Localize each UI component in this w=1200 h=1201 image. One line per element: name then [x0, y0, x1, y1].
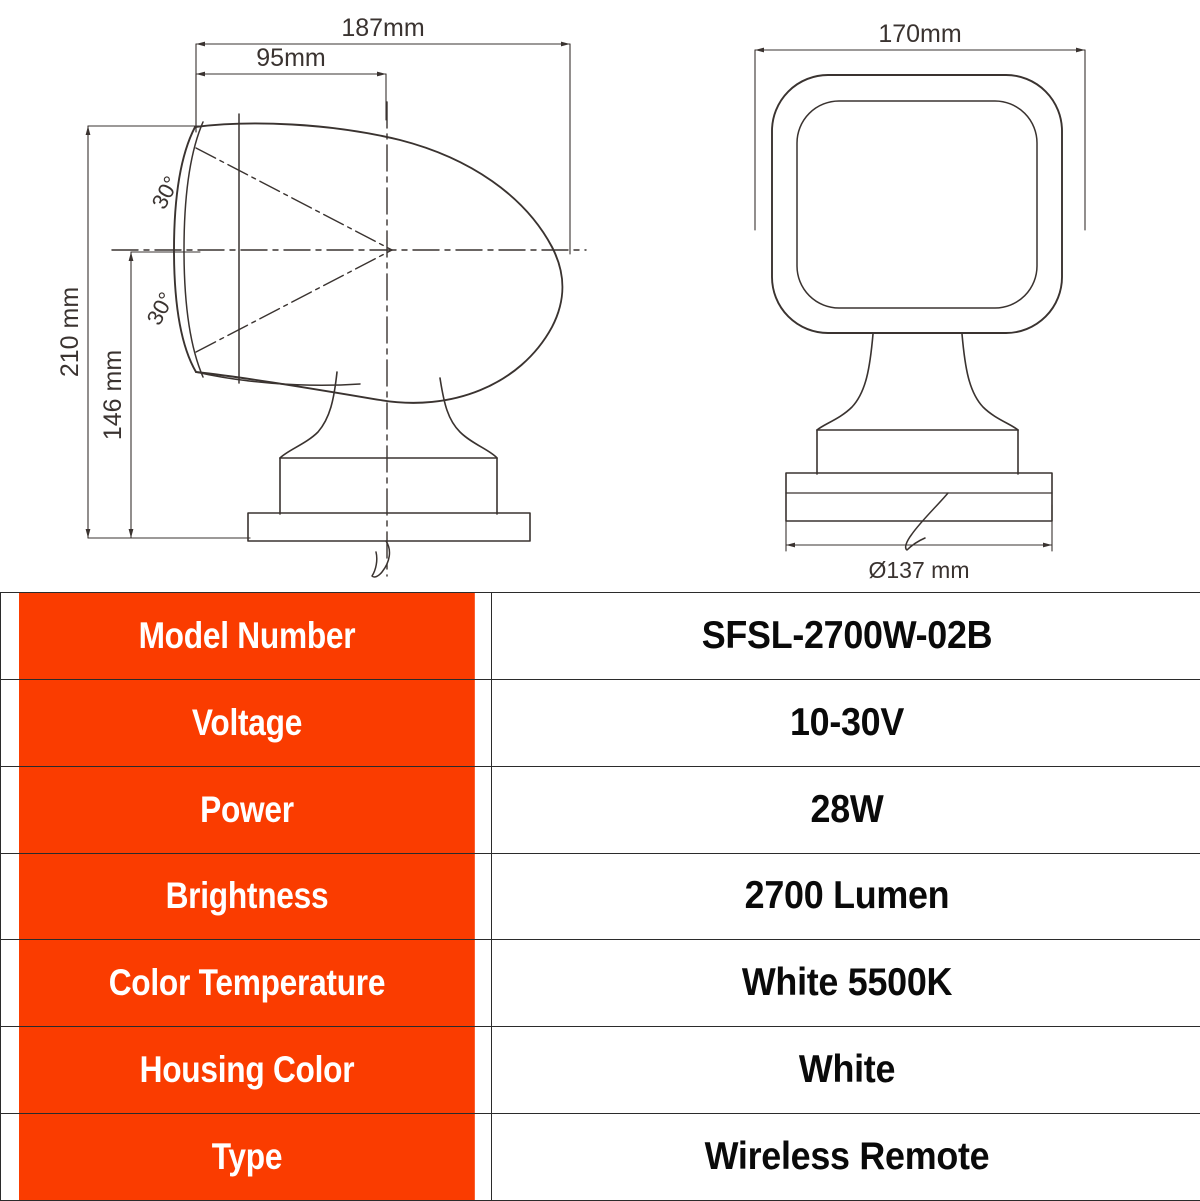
spec-value-text: 10-30V: [520, 701, 1173, 745]
table-row: Brightness 2700 Lumen: [1, 853, 1200, 940]
spec-value-brightness: 2700 Lumen: [492, 853, 1200, 940]
spec-label-text: Brightness: [36, 875, 455, 917]
spec-value-type: Wireless Remote: [492, 1114, 1200, 1201]
spec-label-text: Model Number: [36, 615, 455, 657]
table-row: Housing Color White: [1, 1027, 1200, 1114]
drawings-svg: 187mm 95mm 210 mm 146 mm 30° 30° 170mm Ø…: [0, 0, 1200, 592]
spec-value-model-number: SFSL-2700W-02B: [492, 593, 1200, 680]
dim-187mm: [196, 44, 570, 254]
spec-label-voltage: Voltage: [18, 679, 475, 766]
table-row: Power 28W: [1, 766, 1200, 853]
spec-value-housing-color: White: [492, 1027, 1200, 1114]
dim-label-146mm: 146 mm: [99, 350, 127, 440]
dim-170mm: [755, 50, 1085, 230]
spec-value-power: 28W: [492, 766, 1200, 853]
specification-table-body: Model Number SFSL-2700W-02B Voltage 10-3…: [1, 593, 1200, 1201]
dim-146mm: [131, 252, 250, 538]
dim-95mm: [196, 74, 386, 132]
front-pedestal-right-profile: [962, 334, 1018, 430]
table-row: Model Number SFSL-2700W-02B: [1, 593, 1200, 680]
spec-label-color-temperature: Color Temperature: [18, 940, 475, 1027]
angle-label-30deg-lower: 30°: [142, 288, 180, 329]
front-base-flange: [786, 473, 1052, 521]
specification-table: Model Number SFSL-2700W-02B Voltage 10-3…: [0, 592, 1200, 1201]
spec-label-type: Type: [18, 1114, 475, 1201]
table-row: Color Temperature White 5500K: [1, 940, 1200, 1027]
dim-label-95mm: 95mm: [256, 44, 325, 72]
spec-value-text: White 5500K: [520, 961, 1173, 1005]
spec-value-text: 2700 Lumen: [520, 874, 1173, 918]
spec-label-text: Housing Color: [36, 1049, 455, 1091]
spec-label-text: Color Temperature: [36, 962, 455, 1004]
base-flange-plate: [248, 513, 530, 541]
dim-137mm: [786, 505, 1052, 551]
spec-value-text: SFSL-2700W-02B: [520, 614, 1173, 658]
spec-label-model-number: Model Number: [18, 593, 475, 680]
table-row: Type Wireless Remote: [1, 1114, 1200, 1201]
spec-value-voltage: 10-30V: [492, 679, 1200, 766]
lens-bezel-outline: [797, 101, 1037, 308]
spec-label-brightness: Brightness: [18, 853, 475, 940]
dim-label-187mm: 187mm: [341, 14, 424, 42]
housing-outer-outline: [772, 75, 1062, 333]
front-pedestal-left-profile: [817, 334, 873, 430]
spec-label-text: Power: [36, 789, 455, 831]
spec-label-text: Voltage: [36, 702, 455, 744]
spec-value-color-temperature: White 5500K: [492, 940, 1200, 1027]
spec-value-text: 28W: [520, 788, 1173, 832]
spec-label-power: Power: [18, 766, 475, 853]
pedestal-right-profile: [440, 378, 497, 458]
dim-label-137mm: Ø137 mm: [869, 557, 970, 583]
lamp-body-outline: [195, 123, 563, 402]
table-row: Voltage 10-30V: [1, 679, 1200, 766]
spec-label-text: Type: [36, 1136, 455, 1178]
technical-drawings-panel: 187mm 95mm 210 mm 146 mm 30° 30° 170mm Ø…: [0, 0, 1200, 592]
front-view-group: [755, 50, 1085, 551]
dim-label-210mm: 210 mm: [56, 287, 84, 377]
dim-label-170mm: 170mm: [878, 20, 961, 48]
spec-value-text: White: [520, 1048, 1173, 1092]
spec-label-housing-color: Housing Color: [18, 1027, 475, 1114]
spec-value-text: Wireless Remote: [520, 1135, 1173, 1179]
